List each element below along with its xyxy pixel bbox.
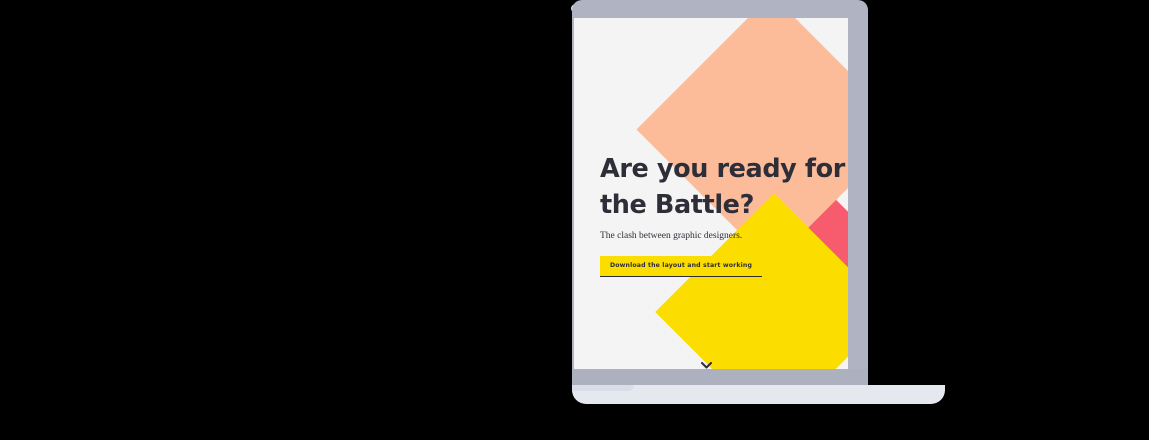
hero-text-block: Are you ready for the Battle? The clash … xyxy=(600,151,848,277)
webpage-hero-section: Are you ready for the Battle? The clash … xyxy=(574,18,848,369)
laptop-screen: Are you ready for the Battle? The clash … xyxy=(574,18,848,369)
page-title: Are you ready for the Battle? xyxy=(600,151,848,224)
chevron-down-icon xyxy=(701,362,712,369)
laptop-base-notch xyxy=(572,385,634,391)
page-subtitle: The clash between graphic designers. xyxy=(600,231,848,242)
scroll-down-button[interactable] xyxy=(699,358,713,369)
download-layout-button[interactable]: Download the layout and start working xyxy=(600,256,762,277)
cta-wrapper: Download the layout and start working xyxy=(600,256,762,277)
canvas: Are you ready for the Battle? The clash … xyxy=(0,0,1149,440)
laptop-mockup: Are you ready for the Battle? The clash … xyxy=(0,0,1149,440)
laptop-hinge xyxy=(572,369,868,385)
